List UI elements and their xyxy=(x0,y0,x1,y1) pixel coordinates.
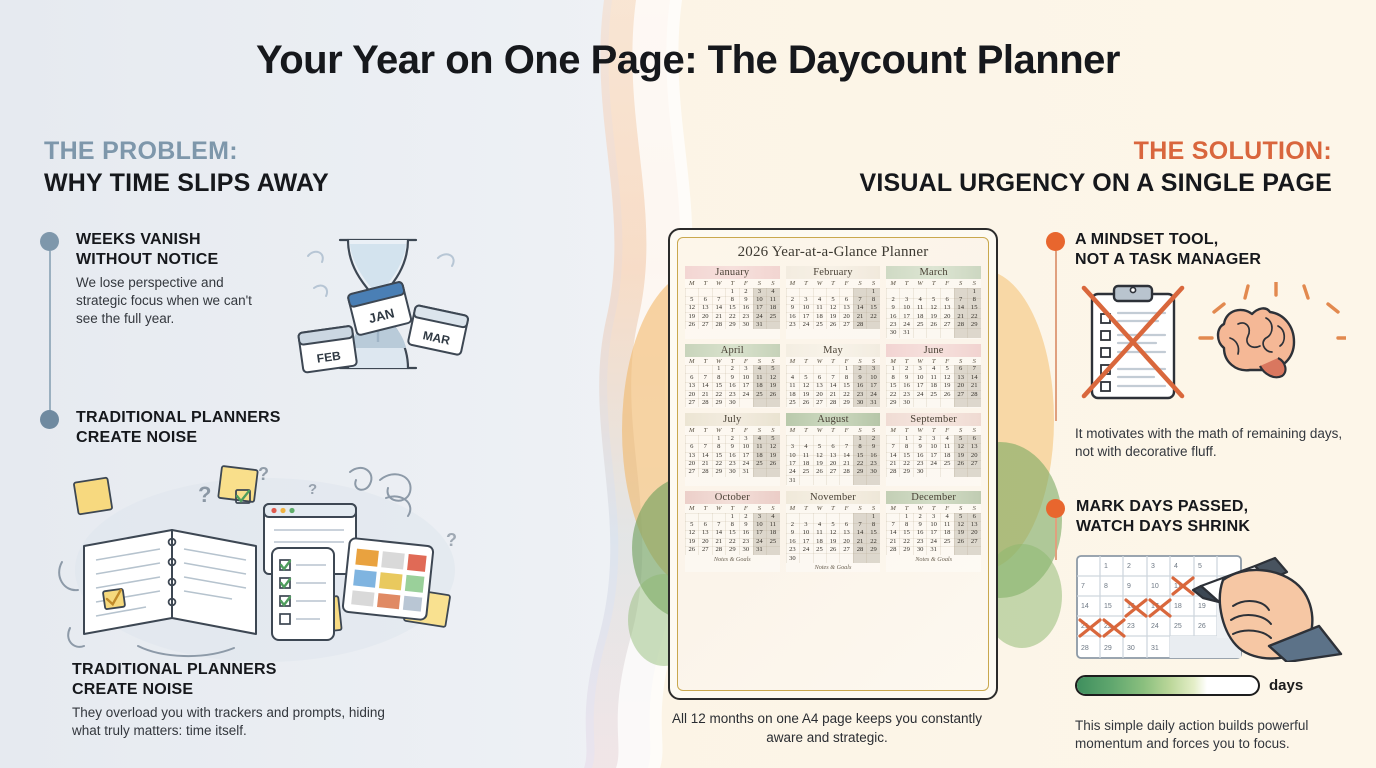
day-cell[interactable]: 21 xyxy=(853,538,867,546)
day-cell[interactable]: 1 xyxy=(867,288,881,296)
day-cell[interactable]: 10 xyxy=(900,304,914,312)
day-cell[interactable]: 5 xyxy=(954,513,968,521)
day-cell[interactable]: 14 xyxy=(967,374,981,382)
day-cell[interactable]: 17 xyxy=(927,452,941,460)
day-cell[interactable]: 25 xyxy=(786,399,800,407)
day-cell[interactable]: 12 xyxy=(940,374,954,382)
day-cell[interactable]: 19 xyxy=(927,313,941,321)
day-cell[interactable] xyxy=(786,435,800,443)
day-cell[interactable] xyxy=(967,546,981,554)
day-cell[interactable]: 18 xyxy=(766,304,780,312)
day-cell[interactable]: 23 xyxy=(726,391,740,399)
day-cell[interactable] xyxy=(940,468,954,476)
day-cell[interactable] xyxy=(685,365,699,373)
day-cell[interactable] xyxy=(699,513,713,521)
day-cell[interactable]: 8 xyxy=(886,374,900,382)
day-cell[interactable]: 18 xyxy=(753,382,767,390)
day-cell[interactable]: 29 xyxy=(726,321,740,329)
day-cell[interactable]: 3 xyxy=(799,296,813,304)
day-cell[interactable]: 4 xyxy=(813,521,827,529)
day-cell[interactable]: 7 xyxy=(826,374,840,382)
day-cell[interactable]: 20 xyxy=(840,313,854,321)
day-cell[interactable]: 20 xyxy=(826,460,840,468)
day-cell[interactable]: 27 xyxy=(967,460,981,468)
day-cell[interactable]: 21 xyxy=(886,460,900,468)
day-cell[interactable]: 3 xyxy=(867,365,881,373)
day-cell[interactable]: 18 xyxy=(813,313,827,321)
day-cell[interactable]: 25 xyxy=(913,321,927,329)
day-cell[interactable] xyxy=(967,329,981,337)
day-cell[interactable]: 20 xyxy=(840,538,854,546)
day-cell[interactable]: 27 xyxy=(940,321,954,329)
day-cell[interactable] xyxy=(799,555,813,563)
day-cell[interactable] xyxy=(913,329,927,337)
day-cell[interactable]: 8 xyxy=(900,521,914,529)
day-cell[interactable]: 1 xyxy=(867,513,881,521)
day-cell[interactable]: 3 xyxy=(753,288,767,296)
day-cell[interactable]: 24 xyxy=(753,538,767,546)
day-cell[interactable]: 28 xyxy=(967,391,981,399)
day-cell[interactable] xyxy=(886,435,900,443)
day-cell[interactable]: 10 xyxy=(913,374,927,382)
day-cell[interactable]: 21 xyxy=(826,391,840,399)
day-cell[interactable]: 23 xyxy=(786,546,800,554)
day-cell[interactable]: 28 xyxy=(853,321,867,329)
day-cell[interactable]: 4 xyxy=(766,288,780,296)
day-cell[interactable]: 8 xyxy=(726,296,740,304)
day-cell[interactable] xyxy=(913,399,927,407)
day-cell[interactable]: 22 xyxy=(712,391,726,399)
day-cell[interactable]: 16 xyxy=(726,382,740,390)
day-cell[interactable] xyxy=(685,288,699,296)
day-cell[interactable]: 24 xyxy=(867,391,881,399)
day-cell[interactable]: 6 xyxy=(699,296,713,304)
day-cell[interactable]: 12 xyxy=(813,452,827,460)
day-cell[interactable]: 26 xyxy=(799,399,813,407)
day-cell[interactable]: 15 xyxy=(967,304,981,312)
day-cell[interactable]: 1 xyxy=(726,513,740,521)
day-cell[interactable]: 4 xyxy=(766,513,780,521)
day-cell[interactable]: 14 xyxy=(712,529,726,537)
day-cell[interactable]: 4 xyxy=(753,435,767,443)
day-cell[interactable]: 28 xyxy=(826,399,840,407)
day-cell[interactable]: 14 xyxy=(886,529,900,537)
day-cell[interactable]: 24 xyxy=(739,391,753,399)
day-cell[interactable]: 17 xyxy=(753,529,767,537)
day-cell[interactable]: 6 xyxy=(685,443,699,451)
day-cell[interactable]: 13 xyxy=(967,521,981,529)
day-cell[interactable]: 2 xyxy=(726,435,740,443)
day-cell[interactable] xyxy=(954,399,968,407)
day-cell[interactable]: 29 xyxy=(726,546,740,554)
day-cell[interactable] xyxy=(685,435,699,443)
day-cell[interactable]: 26 xyxy=(685,321,699,329)
day-cell[interactable]: 11 xyxy=(766,521,780,529)
day-cell[interactable]: 1 xyxy=(967,288,981,296)
day-cell[interactable]: 31 xyxy=(739,468,753,476)
day-cell[interactable]: 5 xyxy=(813,443,827,451)
day-cell[interactable]: 15 xyxy=(867,529,881,537)
day-cell[interactable]: 15 xyxy=(712,452,726,460)
day-cell[interactable]: 3 xyxy=(900,296,914,304)
day-cell[interactable]: 19 xyxy=(685,313,699,321)
day-cell[interactable]: 8 xyxy=(712,443,726,451)
day-cell[interactable] xyxy=(913,288,927,296)
day-cell[interactable]: 12 xyxy=(826,304,840,312)
day-cell[interactable]: 25 xyxy=(799,468,813,476)
day-cell[interactable] xyxy=(826,288,840,296)
day-cell[interactable]: 20 xyxy=(940,313,954,321)
day-cell[interactable]: 2 xyxy=(726,365,740,373)
day-cell[interactable]: 19 xyxy=(954,452,968,460)
day-cell[interactable] xyxy=(813,555,827,563)
day-cell[interactable]: 14 xyxy=(712,304,726,312)
day-cell[interactable]: 19 xyxy=(826,538,840,546)
day-cell[interactable]: 13 xyxy=(840,529,854,537)
day-cell[interactable]: 4 xyxy=(940,513,954,521)
day-cell[interactable]: 23 xyxy=(786,321,800,329)
day-cell[interactable]: 5 xyxy=(685,521,699,529)
day-cell[interactable]: 14 xyxy=(840,452,854,460)
day-cell[interactable]: 14 xyxy=(853,304,867,312)
day-cell[interactable]: 26 xyxy=(685,546,699,554)
day-cell[interactable]: 22 xyxy=(867,538,881,546)
day-cell[interactable]: 11 xyxy=(753,443,767,451)
day-cell[interactable]: 29 xyxy=(840,399,854,407)
day-cell[interactable]: 7 xyxy=(853,521,867,529)
day-cell[interactable]: 15 xyxy=(726,529,740,537)
day-cell[interactable]: 4 xyxy=(813,296,827,304)
day-cell[interactable]: 27 xyxy=(840,321,854,329)
day-cell[interactable]: 26 xyxy=(826,321,840,329)
day-cell[interactable]: 22 xyxy=(900,538,914,546)
day-cell[interactable]: 31 xyxy=(927,546,941,554)
day-cell[interactable]: 16 xyxy=(853,382,867,390)
day-cell[interactable]: 23 xyxy=(739,538,753,546)
day-cell[interactable]: 3 xyxy=(786,443,800,451)
day-cell[interactable]: 9 xyxy=(853,374,867,382)
month-june[interactable]: JuneMTWTFSS12345678910111213141516171819… xyxy=(886,344,981,408)
day-cell[interactable]: 4 xyxy=(799,443,813,451)
day-cell[interactable]: 19 xyxy=(799,391,813,399)
day-cell[interactable] xyxy=(786,365,800,373)
day-cell[interactable]: 17 xyxy=(913,382,927,390)
day-cell[interactable]: 30 xyxy=(726,399,740,407)
day-cell[interactable]: 20 xyxy=(813,391,827,399)
day-cell[interactable] xyxy=(900,288,914,296)
day-cell[interactable]: 3 xyxy=(739,435,753,443)
day-cell[interactable] xyxy=(927,288,941,296)
day-cell[interactable]: 1 xyxy=(900,513,914,521)
day-cell[interactable]: 10 xyxy=(739,374,753,382)
day-cell[interactable]: 13 xyxy=(940,304,954,312)
day-cell[interactable] xyxy=(867,321,881,329)
day-cell[interactable]: 23 xyxy=(913,538,927,546)
day-cell[interactable]: 30 xyxy=(886,329,900,337)
day-cell[interactable]: 26 xyxy=(954,460,968,468)
day-cell[interactable]: 4 xyxy=(940,435,954,443)
day-cell[interactable]: 2 xyxy=(913,435,927,443)
day-cell[interactable]: 2 xyxy=(786,296,800,304)
day-cell[interactable]: 30 xyxy=(913,468,927,476)
day-cell[interactable]: 24 xyxy=(927,460,941,468)
day-cell[interactable] xyxy=(712,288,726,296)
day-cell[interactable]: 13 xyxy=(967,443,981,451)
day-cell[interactable]: 27 xyxy=(967,538,981,546)
day-cell[interactable]: 17 xyxy=(799,538,813,546)
day-cell[interactable]: 29 xyxy=(967,321,981,329)
day-cell[interactable]: 14 xyxy=(853,529,867,537)
day-cell[interactable]: 19 xyxy=(826,313,840,321)
day-cell[interactable] xyxy=(853,288,867,296)
day-cell[interactable]: 9 xyxy=(739,296,753,304)
day-cell[interactable]: 2 xyxy=(786,521,800,529)
day-cell[interactable]: 8 xyxy=(712,374,726,382)
day-cell[interactable] xyxy=(927,468,941,476)
day-cell[interactable]: 9 xyxy=(913,521,927,529)
day-cell[interactable]: 5 xyxy=(799,374,813,382)
day-cell[interactable]: 8 xyxy=(726,521,740,529)
day-cell[interactable]: 23 xyxy=(853,391,867,399)
day-cell[interactable]: 17 xyxy=(739,452,753,460)
planner-sheet[interactable]: 2026 Year-at-a-Glance Planner JanuaryMTW… xyxy=(668,228,998,700)
day-cell[interactable] xyxy=(840,288,854,296)
day-cell[interactable]: 4 xyxy=(753,365,767,373)
day-cell[interactable]: 15 xyxy=(712,382,726,390)
day-cell[interactable]: 16 xyxy=(739,304,753,312)
day-cell[interactable] xyxy=(940,329,954,337)
day-cell[interactable]: 22 xyxy=(712,460,726,468)
day-cell[interactable]: 22 xyxy=(900,460,914,468)
day-cell[interactable]: 5 xyxy=(685,296,699,304)
day-cell[interactable]: 3 xyxy=(913,365,927,373)
day-cell[interactable]: 2 xyxy=(739,513,753,521)
day-cell[interactable]: 26 xyxy=(826,546,840,554)
day-cell[interactable] xyxy=(927,399,941,407)
day-cell[interactable]: 30 xyxy=(739,321,753,329)
day-cell[interactable] xyxy=(799,365,813,373)
day-cell[interactable]: 26 xyxy=(766,391,780,399)
day-cell[interactable]: 23 xyxy=(886,321,900,329)
day-cell[interactable]: 27 xyxy=(685,468,699,476)
day-cell[interactable] xyxy=(826,477,840,485)
day-cell[interactable]: 18 xyxy=(913,313,927,321)
day-cell[interactable]: 4 xyxy=(913,296,927,304)
day-cell[interactable]: 24 xyxy=(927,538,941,546)
day-cell[interactable]: 24 xyxy=(739,460,753,468)
day-cell[interactable]: 6 xyxy=(685,374,699,382)
day-cell[interactable]: 25 xyxy=(927,391,941,399)
day-cell[interactable] xyxy=(840,435,854,443)
day-cell[interactable]: 29 xyxy=(867,546,881,554)
day-cell[interactable]: 28 xyxy=(699,399,713,407)
day-cell[interactable]: 16 xyxy=(739,529,753,537)
day-cell[interactable]: 22 xyxy=(726,538,740,546)
day-cell[interactable] xyxy=(813,513,827,521)
day-cell[interactable]: 15 xyxy=(900,529,914,537)
day-cell[interactable] xyxy=(799,513,813,521)
day-cell[interactable]: 24 xyxy=(799,546,813,554)
day-cell[interactable]: 30 xyxy=(726,468,740,476)
day-cell[interactable]: 2 xyxy=(886,296,900,304)
day-cell[interactable]: 18 xyxy=(766,529,780,537)
day-cell[interactable]: 9 xyxy=(726,443,740,451)
day-cell[interactable]: 2 xyxy=(853,365,867,373)
day-cell[interactable]: 1 xyxy=(853,435,867,443)
day-cell[interactable]: 15 xyxy=(853,452,867,460)
day-cell[interactable] xyxy=(853,555,867,563)
day-cell[interactable] xyxy=(954,329,968,337)
day-cell[interactable]: 3 xyxy=(753,513,767,521)
day-cell[interactable]: 12 xyxy=(826,529,840,537)
day-cell[interactable]: 17 xyxy=(867,382,881,390)
day-cell[interactable]: 25 xyxy=(940,538,954,546)
day-cell[interactable]: 17 xyxy=(753,304,767,312)
day-cell[interactable]: 30 xyxy=(867,468,881,476)
day-cell[interactable]: 31 xyxy=(786,477,800,485)
day-cell[interactable]: 11 xyxy=(940,521,954,529)
day-cell[interactable]: 28 xyxy=(840,468,854,476)
day-cell[interactable]: 10 xyxy=(799,529,813,537)
day-cell[interactable]: 24 xyxy=(786,468,800,476)
day-cell[interactable]: 7 xyxy=(954,296,968,304)
day-cell[interactable]: 27 xyxy=(813,399,827,407)
day-cell[interactable] xyxy=(853,477,867,485)
day-cell[interactable]: 10 xyxy=(786,452,800,460)
month-march[interactable]: MarchMTWTFSS1234567891011121314151617181… xyxy=(886,266,981,339)
day-cell[interactable] xyxy=(840,477,854,485)
day-cell[interactable] xyxy=(940,288,954,296)
day-cell[interactable]: 17 xyxy=(786,460,800,468)
day-cell[interactable]: 12 xyxy=(954,443,968,451)
day-cell[interactable]: 3 xyxy=(739,365,753,373)
day-cell[interactable]: 22 xyxy=(853,460,867,468)
day-cell[interactable]: 9 xyxy=(786,529,800,537)
day-cell[interactable]: 13 xyxy=(954,374,968,382)
day-cell[interactable]: 29 xyxy=(712,399,726,407)
day-cell[interactable] xyxy=(753,468,767,476)
day-cell[interactable]: 6 xyxy=(940,296,954,304)
day-cell[interactable]: 18 xyxy=(940,529,954,537)
day-cell[interactable]: 25 xyxy=(753,460,767,468)
day-cell[interactable]: 1 xyxy=(712,365,726,373)
day-cell[interactable] xyxy=(813,435,827,443)
day-cell[interactable] xyxy=(786,288,800,296)
day-cell[interactable]: 16 xyxy=(913,452,927,460)
day-cell[interactable]: 18 xyxy=(940,452,954,460)
day-cell[interactable] xyxy=(867,555,881,563)
day-cell[interactable]: 16 xyxy=(913,529,927,537)
day-cell[interactable]: 29 xyxy=(853,468,867,476)
day-cell[interactable]: 21 xyxy=(699,391,713,399)
day-cell[interactable]: 21 xyxy=(886,538,900,546)
day-cell[interactable]: 20 xyxy=(685,391,699,399)
day-cell[interactable]: 8 xyxy=(867,521,881,529)
day-cell[interactable]: 25 xyxy=(813,321,827,329)
day-cell[interactable]: 21 xyxy=(712,313,726,321)
month-october[interactable]: OctoberMTWTFSS12345678910111213141516171… xyxy=(685,491,780,572)
day-cell[interactable]: 2 xyxy=(739,288,753,296)
day-cell[interactable] xyxy=(927,329,941,337)
day-cell[interactable]: 24 xyxy=(913,391,927,399)
day-cell[interactable]: 1 xyxy=(726,288,740,296)
day-cell[interactable]: 2 xyxy=(913,513,927,521)
day-cell[interactable]: 6 xyxy=(840,521,854,529)
day-cell[interactable]: 28 xyxy=(886,546,900,554)
day-cell[interactable]: 10 xyxy=(753,521,767,529)
day-cell[interactable]: 8 xyxy=(853,443,867,451)
month-july[interactable]: JulyMTWTFSS12345678910111213141516171819… xyxy=(685,413,780,486)
day-cell[interactable]: 16 xyxy=(867,452,881,460)
day-cell[interactable]: 13 xyxy=(840,304,854,312)
day-cell[interactable]: 27 xyxy=(954,391,968,399)
days-progress-row[interactable]: days xyxy=(1075,672,1345,698)
day-cell[interactable]: 13 xyxy=(826,452,840,460)
day-cell[interactable]: 18 xyxy=(786,391,800,399)
day-cell[interactable]: 27 xyxy=(685,399,699,407)
day-cell[interactable]: 21 xyxy=(712,538,726,546)
day-cell[interactable]: 19 xyxy=(813,460,827,468)
day-cell[interactable]: 19 xyxy=(954,529,968,537)
day-cell[interactable]: 15 xyxy=(886,382,900,390)
day-cell[interactable]: 28 xyxy=(712,321,726,329)
day-cell[interactable]: 1 xyxy=(886,365,900,373)
day-cell[interactable]: 6 xyxy=(813,374,827,382)
day-cell[interactable]: 18 xyxy=(753,452,767,460)
day-cell[interactable]: 11 xyxy=(799,452,813,460)
day-cell[interactable]: 7 xyxy=(699,443,713,451)
day-cell[interactable] xyxy=(940,546,954,554)
day-cell[interactable] xyxy=(699,435,713,443)
day-cell[interactable]: 19 xyxy=(685,538,699,546)
day-cell[interactable] xyxy=(826,513,840,521)
day-cell[interactable]: 22 xyxy=(726,313,740,321)
day-cell[interactable]: 10 xyxy=(927,443,941,451)
day-cell[interactable]: 11 xyxy=(753,374,767,382)
day-cell[interactable]: 23 xyxy=(913,460,927,468)
day-cell[interactable]: 21 xyxy=(967,382,981,390)
day-cell[interactable]: 24 xyxy=(900,321,914,329)
day-cell[interactable]: 30 xyxy=(853,399,867,407)
day-cell[interactable]: 1 xyxy=(900,435,914,443)
day-cell[interactable]: 9 xyxy=(726,374,740,382)
day-cell[interactable]: 8 xyxy=(967,296,981,304)
day-cell[interactable]: 23 xyxy=(867,460,881,468)
day-cell[interactable] xyxy=(766,468,780,476)
day-cell[interactable]: 13 xyxy=(813,382,827,390)
day-cell[interactable]: 17 xyxy=(739,382,753,390)
month-may[interactable]: MayMTWTFSS123456789101112131415161718192… xyxy=(786,344,881,408)
day-cell[interactable]: 14 xyxy=(954,304,968,312)
day-cell[interactable]: 21 xyxy=(853,313,867,321)
day-cell[interactable]: 12 xyxy=(766,443,780,451)
day-cell[interactable] xyxy=(954,468,968,476)
day-cell[interactable]: 5 xyxy=(826,296,840,304)
day-cell[interactable]: 12 xyxy=(927,304,941,312)
day-cell[interactable]: 10 xyxy=(739,443,753,451)
day-cell[interactable]: 5 xyxy=(826,521,840,529)
day-cell[interactable] xyxy=(699,365,713,373)
day-cell[interactable]: 6 xyxy=(954,365,968,373)
day-cell[interactable]: 25 xyxy=(766,538,780,546)
month-november[interactable]: NovemberMTWTFSS1234567891011121314151617… xyxy=(786,491,881,572)
day-cell[interactable]: 16 xyxy=(726,452,740,460)
day-cell[interactable]: 16 xyxy=(900,382,914,390)
day-cell[interactable]: 14 xyxy=(699,452,713,460)
day-cell[interactable]: 20 xyxy=(685,460,699,468)
day-cell[interactable]: 15 xyxy=(726,304,740,312)
day-cell[interactable]: 27 xyxy=(699,321,713,329)
